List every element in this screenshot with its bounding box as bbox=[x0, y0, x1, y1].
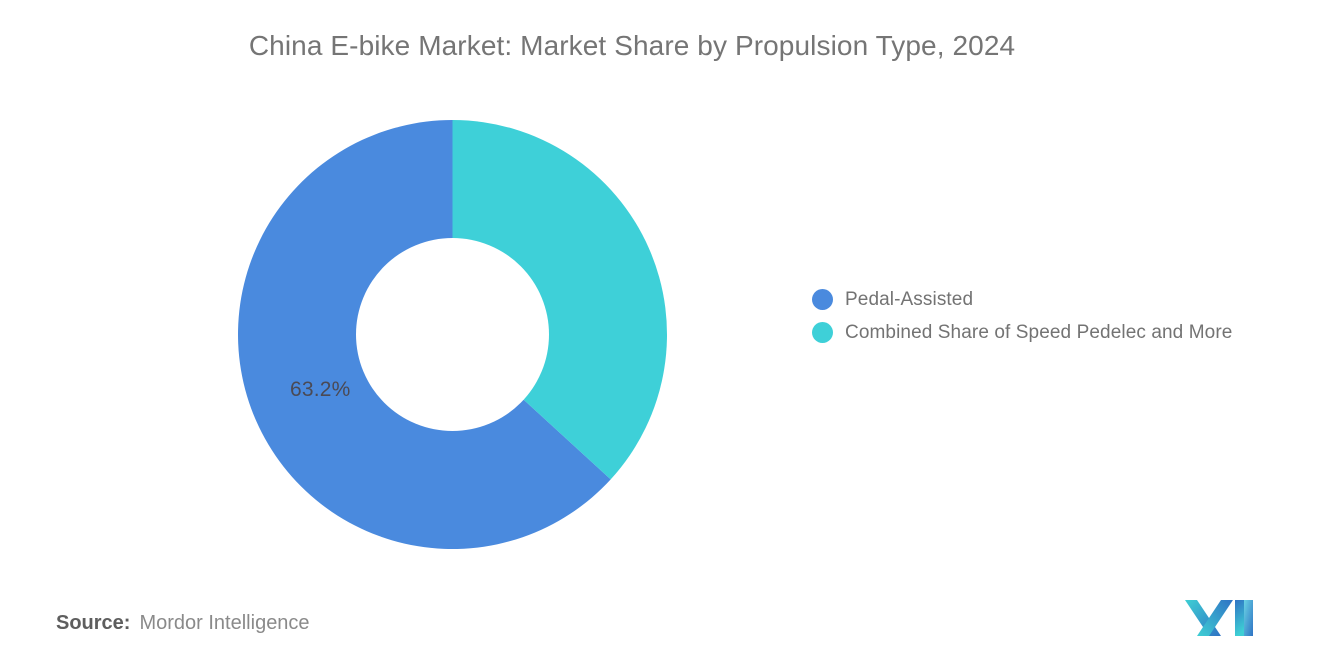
mordor-intelligence-logo-icon bbox=[1183, 596, 1259, 640]
chart-legend: Pedal-Assisted Combined Share of Speed P… bbox=[812, 283, 1312, 349]
source-label: Source: bbox=[56, 612, 130, 634]
source-name: Mordor Intelligence bbox=[139, 612, 309, 634]
logo-svg bbox=[1183, 596, 1259, 640]
legend-label-pedal-assisted: Pedal-Assisted bbox=[845, 289, 973, 311]
legend-item-pedal-assisted[interactable]: Pedal-Assisted bbox=[812, 283, 1312, 316]
donut-chart-svg bbox=[238, 120, 667, 549]
legend-swatch-icon-combined-share bbox=[812, 322, 833, 343]
pie-slice-value-label-pedal-assisted: 63.2% bbox=[290, 378, 351, 402]
donut-hole bbox=[356, 238, 549, 431]
legend-label-combined-share: Combined Share of Speed Pedelec and More bbox=[845, 322, 1232, 344]
source-attribution: Source:Mordor Intelligence bbox=[56, 612, 310, 635]
legend-swatch-icon-pedal-assisted bbox=[812, 289, 833, 310]
donut-chart bbox=[238, 120, 667, 549]
legend-item-combined-share[interactable]: Combined Share of Speed Pedelec and More bbox=[812, 316, 1312, 349]
chart-title: China E-bike Market: Market Share by Pro… bbox=[0, 30, 1320, 62]
